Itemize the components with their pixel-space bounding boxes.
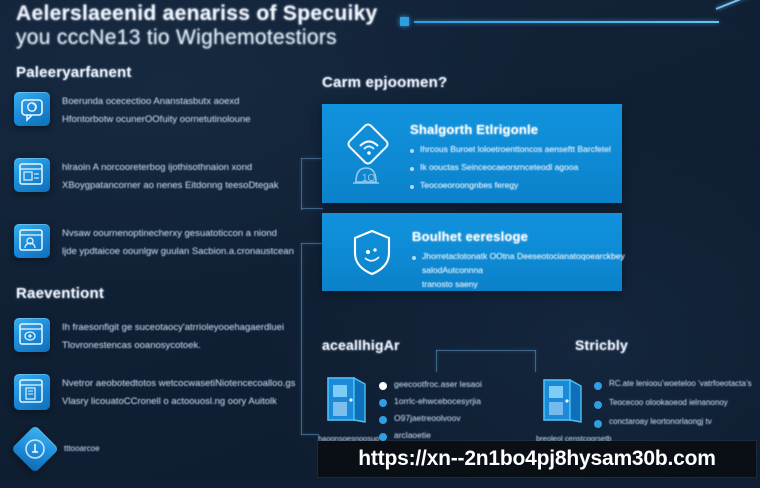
page-title-line1: Aelerslaeenid aenariss of Specuiky [16,2,378,26]
panel1-bullet-text-0: Ihrcous Buroet loloetroenttoncos aenseft… [420,144,611,154]
open-door-icon-left [322,372,370,428]
left-section1-heading: Paleeryarfanent [16,64,132,81]
left-item2-line1: hlraoin A norcooreterbog ijothisothnaion… [62,162,252,173]
window-form-icon [14,158,50,192]
panel1-bullet-1 [410,167,414,171]
panel2-bullet-text-0: Jhorretaclotonatk OOtna Deeseotocianatoq… [422,251,625,261]
bl-bullet-3 [379,433,387,441]
accent-diagonal-line [716,0,750,10]
br-bullet-1 [594,401,602,409]
bl-bullet-1 [379,399,387,407]
br-item-text-0: RC.ate lenioou’woeteloo ‘vatrfoeotacta’s [609,379,752,388]
bl-bullet-0 [379,382,387,390]
left-footer-label: tttooarcoe [64,444,100,453]
url-banner[interactable]: https://xn--2n1bo4pj8hysam30b.com [318,441,756,477]
svg-text:1O: 1O [362,173,376,184]
open-door-icon-right [538,372,586,428]
panel1-bullet-text-2: Teocoeoroongnbes feregy [420,180,518,190]
panel2-bullet-text-2: tranosto saeny [422,279,478,289]
panel-strength-card[interactable]: 1O Shalgorth Etlrigonle Ihrcous Buroet l… [322,104,622,203]
left-item3-line1: Nvsaw oournenoptinecherxy gesuatoticcon … [62,228,277,239]
br-item-text-1: Teocecoo olookaoeod ielnanonoy [609,398,728,407]
bl-item-text-1: 1orrlc-ehwcebocesyrjia [394,396,481,406]
connector-bracket-h1-top [301,158,323,159]
bottom-left-heading: aceallhigAr [322,337,400,353]
connector-branch-left-drop [436,350,437,372]
page-title-line2: you cccNe13 tio Wighemotestiors [16,26,337,50]
connector-branch-right-drop [535,350,536,372]
panel1-bullet-0 [410,149,414,153]
shield-check-icon [346,225,398,279]
left-s2-item2-line2: Vlasry licouatoCCronell o actoouosl.ng o… [62,396,277,407]
bl-item-text-3: arclaoetie [394,430,431,440]
br-bullet-2 [594,420,602,428]
left-item1-line2: Hfontorbotw ocunerOOfuity oornetutinolou… [62,114,251,125]
panel2-bullet-text-1: salodAutconnna [422,265,483,275]
left-item3-line2: ljde ypdtaicoe oounlgw guulan Sacbion.a.… [62,246,294,257]
header-accent-rule [400,12,750,34]
panel-coverage-card[interactable]: Boulhet eeresloge Jhorretaclotonatk OOtn… [322,213,622,291]
center-heading: Carm epjoomen? [322,74,447,91]
connector-spine-top-stub [301,243,323,244]
window-doc-icon [14,374,50,410]
url-text: https://xn--2n1bo4pj8hysam30b.com [358,447,715,471]
accent-square-icon [400,17,409,26]
panel1-title: Shalgorth Etlrigonle [410,122,538,137]
infographic-canvas: Aelerslaeenid aenariss of Specuiky you c… [0,0,760,480]
left-section2-heading: Raeventiont [16,285,104,302]
left-s2-item2-line1: Nvetror aeobotedtotos wetcocwasetiNioten… [62,378,295,389]
connector-branch-horizontal [436,350,536,351]
window-user-icon [14,224,50,258]
br-bullet-0 [594,382,602,390]
panel2-title: Boulhet eeresloge [412,229,528,244]
br-item-text-2: conctaroay leortonorlaongj tv [609,417,712,426]
bottom-right-heading: Stricbly [575,337,628,353]
document-chat-icon [14,92,50,126]
left-item1-line1: Boerunda ocecectioo Ananstasbutx aoexd [62,96,239,107]
diamond-badge-icon [11,425,59,473]
window-photo-icon [14,318,50,352]
bl-item-text-0: geecootfroc.aser lesaoi [394,379,482,389]
bl-bullet-2 [379,416,387,424]
connector-bracket-v1 [301,158,302,210]
bell-icon: 1O [344,156,388,194]
bl-item-text-2: O97jaetreoolvoov [394,413,461,423]
left-item2-line2: XBoygpatancorner ao nenes Eitdonng teeso… [62,180,279,191]
panel1-bullet-text-1: Ik oouctas Seinceocaeorsrnceteodl agooa [420,162,578,172]
connector-spine-vertical [301,243,302,435]
connector-bracket-h1-bottom [301,208,323,209]
panel2-bullet-0 [412,256,416,260]
connector-spine-bottom-stub [301,434,319,435]
accent-line [414,21,719,23]
panel1-bullet-2 [410,185,414,189]
left-s2-item1-line2: Tlovronestencas ooanosycotoek. [62,340,201,351]
left-s2-item1-line1: Ih fraesonfigit ge suceotaocy'atrrioleyo… [62,322,284,333]
